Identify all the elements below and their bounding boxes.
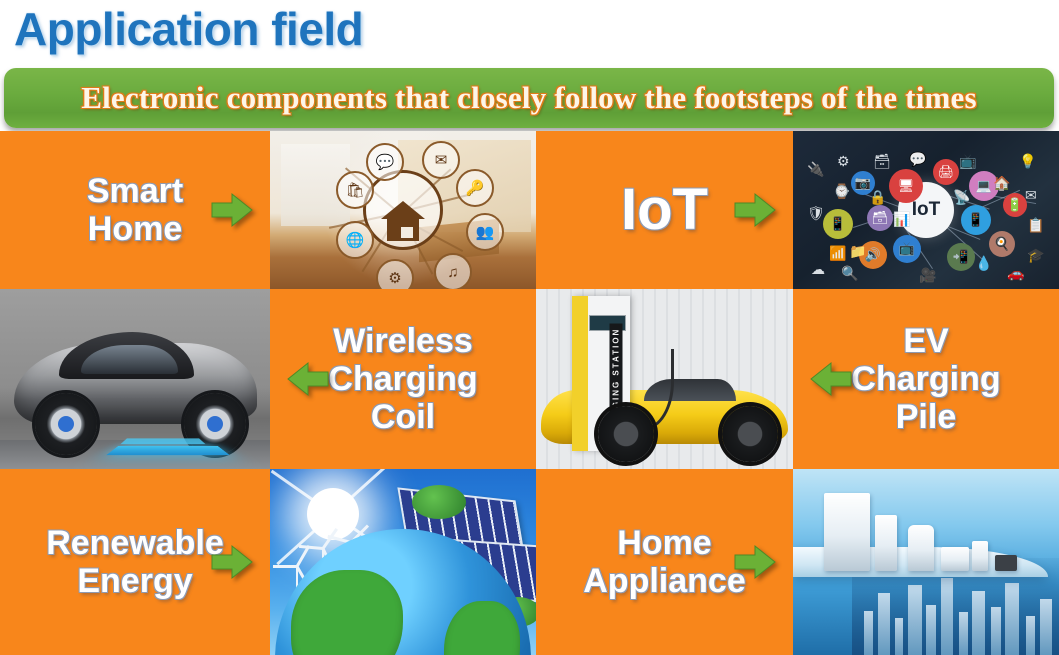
landmass: [291, 570, 403, 655]
globe-icon: 🌐: [336, 221, 374, 259]
label-group-renewable-energy: Renewable Energy: [40, 524, 230, 600]
wifi-icon: 📶: [829, 245, 846, 262]
cell-wireless-charging-coil[interactable]: Wireless Charging Coil: [270, 289, 536, 469]
label-line: Appliance: [583, 562, 745, 600]
arrow-right-icon: [733, 192, 777, 228]
people-icon: 👥: [466, 213, 504, 251]
database-icon: 🗃: [873, 153, 891, 170]
range-hood: [908, 525, 934, 571]
label-line: Coil: [371, 398, 435, 436]
application-field-slide: Application field Electronic components …: [0, 0, 1059, 655]
landmass: [444, 601, 521, 655]
wheel: [35, 393, 97, 455]
label-line: Renewable: [46, 524, 224, 562]
mobile-node-icon: 📱: [961, 205, 991, 235]
video-icon: 🎥: [919, 267, 936, 284]
bulb-icon: 💡: [1019, 153, 1036, 170]
plug-icon: 🔌: [807, 161, 824, 178]
cell-smart-home[interactable]: Smart Home: [0, 131, 270, 289]
building: [959, 612, 968, 655]
cell-home-appliance-image: [793, 469, 1059, 655]
wheel: [598, 406, 654, 462]
label-group-wireless-charging-coil: Wireless Charging Coil: [322, 322, 483, 436]
cell-renewable-image: [270, 469, 536, 655]
tagline-banner: Electronic components that closely follo…: [4, 68, 1054, 128]
cell-renewable-energy[interactable]: Renewable Energy: [0, 469, 270, 655]
chart-icon: 📊: [893, 211, 910, 228]
watch-icon: ⌚: [833, 183, 850, 200]
chat-icon: 💬: [366, 143, 404, 181]
label-group-smart-home: Smart Home: [81, 172, 189, 248]
tagline-text: Electronic components that closely follo…: [81, 80, 977, 116]
bag-icon: 🛍: [336, 171, 374, 209]
cloud-icon: ☁: [811, 261, 825, 278]
label-line: Wireless: [333, 322, 473, 360]
home-appliance-photo: [793, 469, 1059, 655]
lock-icon: 🔒: [869, 189, 886, 206]
graduation-icon: 🎓: [1027, 247, 1044, 264]
display-platform: [793, 547, 1048, 577]
renewable-energy-illustration: [270, 469, 536, 655]
audio-device: [995, 555, 1017, 571]
router-icon: 📡: [953, 189, 970, 206]
folder-icon: 📁: [849, 243, 866, 260]
label-line: Smart: [87, 172, 183, 210]
building: [991, 607, 1001, 655]
house-glyph: [381, 201, 425, 219]
wireless-charging-pad: [107, 446, 230, 455]
label-group-iot: IoT: [615, 178, 714, 243]
arrow-left-icon: [286, 361, 330, 397]
arrow-right-icon: [210, 544, 254, 580]
arrow-left-icon: [809, 361, 853, 397]
charging-pad-glow: [121, 438, 206, 444]
turbine-blade: [273, 565, 297, 568]
refrigerator: [824, 493, 870, 571]
water-heater: [875, 515, 897, 571]
building: [1040, 599, 1052, 655]
mail-icon: ✉: [1025, 187, 1037, 204]
building: [878, 593, 890, 655]
search-icon: 🔍: [841, 265, 858, 282]
label-line: Energy: [77, 562, 192, 600]
cell-home-appliance[interactable]: Home Appliance: [536, 469, 793, 655]
label-line: IoT: [621, 178, 708, 243]
microwave-icon: 📺: [959, 153, 976, 170]
server-node-icon: 🗃: [867, 205, 893, 231]
wireless-charging-car-photo: [0, 289, 270, 469]
chat-icon: 💬: [909, 151, 926, 168]
tv-node-icon: 📺: [893, 235, 921, 263]
fridge-node-icon: 🍳: [989, 231, 1015, 257]
building: [908, 585, 922, 655]
tablet-node-icon: 📲: [947, 243, 975, 271]
gear-icon: ⚙: [837, 153, 850, 170]
house-hub-icon: [363, 170, 443, 250]
page-title: Application field: [14, 2, 363, 56]
label-line: EV: [903, 322, 948, 360]
building: [864, 611, 873, 655]
building: [1026, 616, 1035, 655]
cell-ev-charging-pile[interactable]: EV Charging Pile: [793, 289, 1059, 469]
label-line: Home: [88, 210, 182, 248]
key-icon: 🔑: [456, 169, 494, 207]
mail-icon: ✉: [422, 141, 460, 179]
cell-iot[interactable]: IoT: [536, 131, 793, 289]
cell-iot-image: IoT 🖥 🖨 💻 📷 📱 🗃 📺 🔊 📲 📱 🔋 🍳 🔌 ⚙ 🗃 💬 📺: [793, 131, 1059, 289]
smart-home-illustration: 💬 ✉ 🔑 👥 ♫ ⚙ 🌐 🛍: [270, 131, 536, 289]
arrow-right-icon: [733, 544, 777, 580]
building: [926, 605, 936, 655]
brake-caliper: [58, 416, 74, 432]
turbine-blade: [299, 545, 323, 550]
label-line: Charging: [851, 360, 1000, 398]
clipboard-icon: 📋: [1027, 217, 1044, 234]
cell-ev-charging-image: CHARGING STATION: [536, 289, 793, 469]
label-group-home-appliance: Home Appliance: [577, 524, 751, 600]
arrow-right-icon: [210, 192, 254, 228]
cell-wireless-car-image: [0, 289, 270, 469]
label-group-ev-charging-pile: EV Charging Pile: [845, 322, 1006, 436]
gear-icon: ⚙: [376, 259, 414, 289]
car-icon: 🚗: [1007, 265, 1024, 282]
label-line: Pile: [896, 398, 956, 436]
battery-node-icon: 🔋: [1003, 193, 1027, 217]
water-drop-icon: 💧: [975, 255, 992, 272]
iot-network-illustration: IoT 🖥 🖨 💻 📷 📱 🗃 📺 🔊 📲 📱 🔋 🍳 🔌 ⚙ 🗃 💬 📺: [793, 131, 1059, 289]
microwave: [941, 547, 969, 571]
shield-icon: 🛡: [807, 205, 825, 222]
small-appliance: [972, 541, 988, 571]
label-line: Home: [617, 524, 711, 562]
cell-smart-home-image: 💬 ✉ 🔑 👥 ♫ ⚙ 🌐 🛍: [270, 131, 536, 289]
printer-node-icon: 🖨: [933, 159, 959, 185]
application-grid: Smart Home 💬: [0, 131, 1059, 655]
phone-node-icon: 📱: [823, 209, 853, 239]
building: [941, 578, 953, 655]
label-line: Charging: [328, 360, 477, 398]
building: [972, 591, 985, 655]
wheel: [722, 406, 778, 462]
ev-charging-station-photo: CHARGING STATION: [536, 289, 793, 469]
music-icon: ♫: [434, 253, 472, 289]
brake-caliper: [207, 416, 223, 432]
house-icon: 🏠: [993, 175, 1010, 192]
building: [895, 618, 903, 655]
monitor-node-icon: 🖥: [889, 169, 923, 203]
tree: [412, 485, 466, 519]
building: [1005, 583, 1019, 655]
